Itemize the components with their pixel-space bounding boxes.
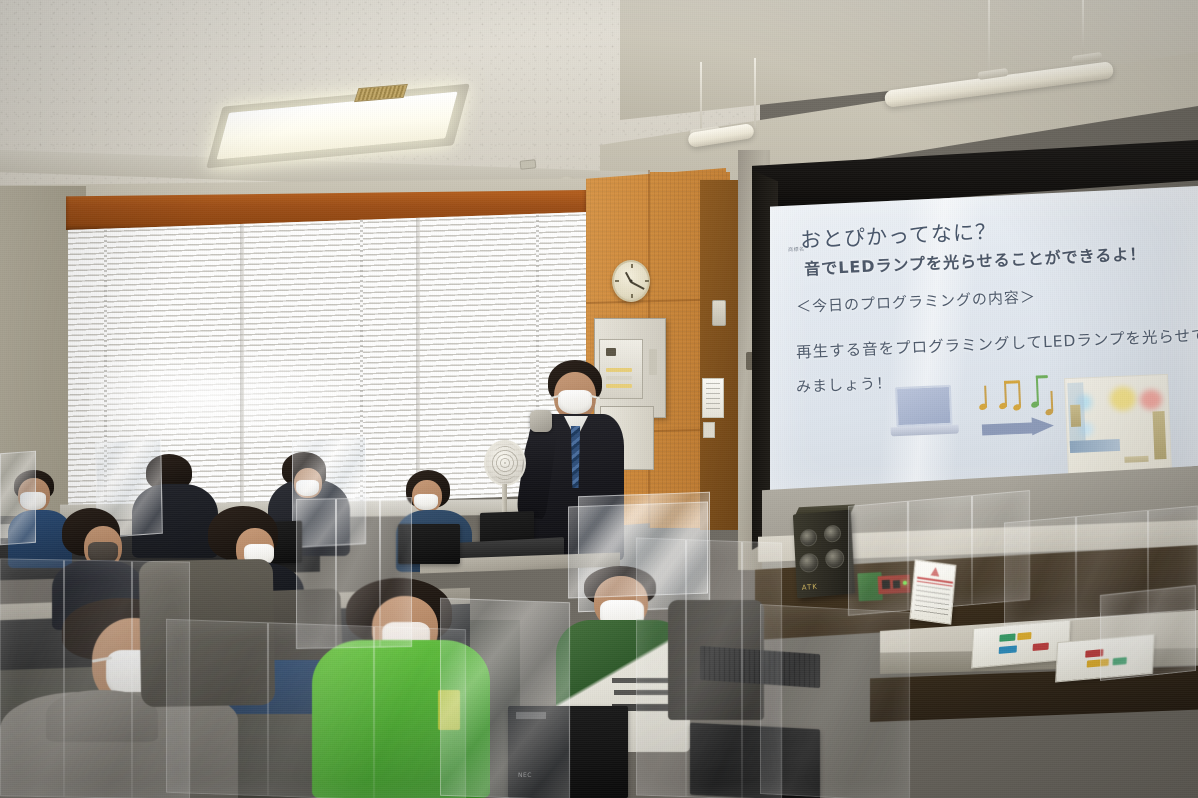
student-face-mask <box>414 494 438 510</box>
wall-clock <box>612 260 650 302</box>
wall-shadow-column <box>700 180 740 530</box>
laptop-icon <box>889 385 959 442</box>
acrylic-partition <box>166 619 466 798</box>
laptop-screen-part <box>895 385 953 427</box>
projector-screen: 商標名 おとぴかってなに？ 音でLEDランプを光らせることができるよ！ ＜今日の… <box>770 186 1198 504</box>
clock-tick <box>645 280 649 282</box>
speaker-brand-label: ATK <box>802 583 818 592</box>
clock-minute-hand <box>631 281 645 289</box>
intercom-unit[interactable] <box>712 300 726 326</box>
panel-switch[interactable] <box>606 348 616 356</box>
handout-swatch <box>1033 643 1049 651</box>
speaker-driver-icon <box>825 548 845 569</box>
light-hanger-rod <box>988 0 990 76</box>
acrylic-partition <box>760 604 910 798</box>
light-hanger-rod <box>754 58 756 128</box>
speaker-driver-icon <box>799 553 819 574</box>
slide-body-line-1: 再生する音をプログラミングしてLEDランプを光らせて <box>796 323 1198 362</box>
handout-swatch <box>999 633 1015 641</box>
handout-swatch <box>1017 632 1031 640</box>
blind-panel-divider <box>240 212 244 512</box>
handout-swatch <box>999 645 1017 654</box>
posted-notice <box>702 378 724 418</box>
acrylic-partition <box>848 490 1030 616</box>
acrylic-partition <box>0 451 36 546</box>
speaker-driver-icon <box>824 524 842 542</box>
held-device <box>530 410 552 432</box>
light-hanger-rod <box>1082 0 1084 58</box>
presenter-face-mask <box>558 390 592 414</box>
led-lamp-board-photo <box>1064 374 1172 474</box>
electric-fan <box>484 440 526 486</box>
acrylic-partition <box>440 598 570 798</box>
acrylic-partition <box>568 502 708 599</box>
panel-handle[interactable] <box>649 349 657 375</box>
fan-grill-icon <box>490 446 520 480</box>
right-arrow-icon <box>982 418 1055 437</box>
acrylic-partition <box>1004 506 1198 627</box>
slide-body-line-2: みましょう！ <box>796 372 893 397</box>
classroom-photo-scene: 商標名 おとぴかってなに？ 音でLEDランプを光らせることができるよ！ ＜今日の… <box>0 0 1198 798</box>
clock-center-pin <box>630 280 633 283</box>
speaker-driver-icon <box>800 529 818 547</box>
speaker-amplifier: ATK <box>793 510 855 599</box>
clock-tick <box>631 294 633 298</box>
laptop-base-part <box>891 425 959 437</box>
posted-notice-small <box>703 422 715 438</box>
notice-text-lines <box>706 383 720 413</box>
ceiling-speaker-icon <box>520 159 537 170</box>
clock-tick <box>615 280 619 282</box>
blind-panel-divider <box>416 212 420 512</box>
light-hanger-rod <box>700 62 702 132</box>
clock-tick <box>631 264 633 268</box>
acrylic-partition <box>0 558 190 798</box>
